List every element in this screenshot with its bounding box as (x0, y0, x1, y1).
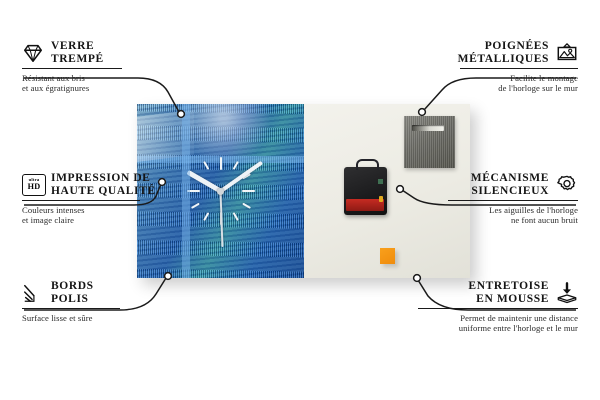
callout-title: IMPRESSION DE HAUTE QUALITÉ (51, 172, 156, 197)
callout-title: MÉCANISME SILENCIEUX (471, 172, 549, 197)
foam-spacer-icon (556, 282, 578, 304)
callout-title: POIGNÉES MÉTALLIQUES (458, 40, 549, 65)
callout-title: ENTRETOISE EN MOUSSE (468, 280, 549, 305)
infographic-canvas: VERRE TREMPÉ Résistant aux bris et aux é… (0, 0, 600, 400)
clock-minute-hand (219, 161, 262, 193)
callout-verre-trempe: VERRE TREMPÉ Résistant aux bris et aux é… (22, 40, 172, 94)
mechanism-chip (378, 179, 384, 183)
clock-center-pin (217, 188, 224, 195)
callout-header: ENTRETOISE EN MOUSSE (402, 280, 578, 305)
aa-battery (346, 199, 384, 212)
callout-impression-haute-qualite: ultra HD IMPRESSION DE HAUTE QUALITÉ Cou… (22, 172, 182, 226)
mechanism-hanging-loop (356, 159, 379, 170)
callout-description: Les aiguilles de l'horloge ne font aucun… (418, 205, 578, 226)
callout-header: VERRE TREMPÉ (22, 40, 172, 65)
glass-glare (137, 110, 194, 163)
callout-bords-polis: BORDS POLIS Surface lisse et sûre (22, 280, 172, 323)
callout-poignees-metalliques: POIGNÉES MÉTALLIQUES Facilite le montage… (418, 40, 578, 94)
callout-description: Résistant aux bris et aux égratignures (22, 73, 172, 94)
callout-header: MÉCANISME SILENCIEUX (418, 172, 578, 197)
picture-hanger-icon (556, 42, 578, 64)
ultra-hd-bottom-label: HD (28, 183, 41, 191)
ultra-hd-icon: ultra HD (22, 174, 44, 196)
diamond-icon (22, 42, 44, 64)
callout-header: ultra HD IMPRESSION DE HAUTE QUALITÉ (22, 172, 182, 197)
callout-rule (448, 200, 578, 201)
callout-mecanisme-silencieux: MÉCANISME SILENCIEUX Les aiguilles de l'… (418, 172, 578, 226)
metal-hanger-plate (404, 116, 455, 168)
callout-description: Permet de maintenir une distance uniform… (402, 313, 578, 334)
callout-description: Facilite le montage de l'horloge sur le … (418, 73, 578, 94)
quartz-mechanism-box (344, 167, 387, 216)
callout-rule (460, 68, 578, 69)
foam-spacer (380, 248, 395, 264)
callout-description: Surface lisse et sûre (22, 313, 172, 323)
callout-entretoise-en-mousse: ENTRETOISE EN MOUSSE Permet de maintenir… (402, 280, 578, 334)
callout-rule (22, 68, 122, 69)
callout-rule (22, 308, 120, 309)
callout-header: BORDS POLIS (22, 280, 172, 305)
clock-second-hand (220, 191, 223, 247)
callout-rule (22, 200, 140, 201)
polished-edges-icon (22, 282, 44, 304)
callout-title: VERRE TREMPÉ (51, 40, 104, 65)
callout-description: Couleurs intenses et image claire (22, 205, 182, 226)
hanger-slot (412, 125, 444, 131)
callout-header: POIGNÉES MÉTALLIQUES (418, 40, 578, 65)
gear-icon (556, 174, 578, 196)
callout-title: BORDS POLIS (51, 280, 94, 305)
callout-rule (418, 308, 578, 309)
